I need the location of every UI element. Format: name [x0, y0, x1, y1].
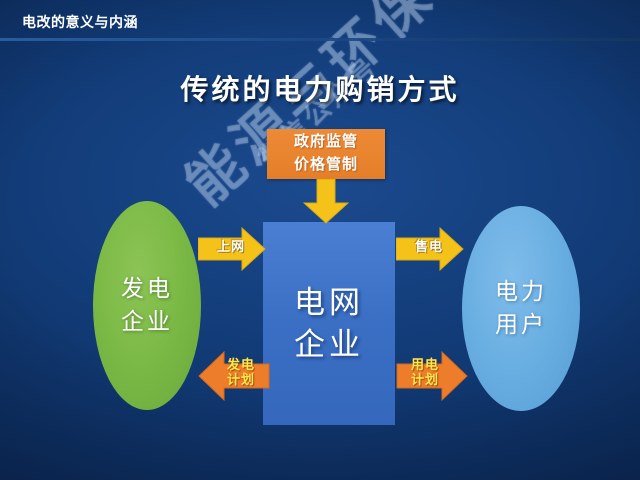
node-regulator-line1: 政府监管	[294, 131, 358, 154]
node-consumer: 电力 用户	[462, 206, 580, 411]
arrow-sell: 售电	[396, 227, 464, 271]
slide-heading: 传统的电力购销方式	[0, 68, 640, 108]
node-regulator: 政府监管 价格管制	[267, 129, 385, 179]
arrow-upload: 上网	[198, 227, 266, 271]
node-generator-line1: 发电	[121, 273, 173, 305]
page-title: 电改的意义与内涵	[22, 12, 138, 32]
slide-canvas: 电改的意义与内涵 能源与环保 微信公众号 传统的电力购销方式 政府监管 价格管制…	[0, 0, 640, 480]
arrow-generation-plan: 发电 计划	[198, 350, 270, 402]
arrow-regulation-down-icon	[303, 179, 349, 224]
header-divider	[0, 38, 640, 41]
node-regulator-line2: 价格管制	[294, 154, 358, 177]
node-generator: 发电 企业	[93, 201, 201, 410]
node-generator-line2: 企业	[121, 306, 173, 338]
node-consumer-line2: 用户	[495, 309, 547, 341]
node-grid-company: 电网 企业	[263, 222, 395, 425]
arrow-consumption-plan: 用电 计划	[396, 350, 468, 402]
node-grid-line2: 企业	[294, 324, 364, 366]
node-grid-line1: 电网	[294, 282, 364, 324]
node-consumer-line1: 电力	[495, 276, 547, 308]
